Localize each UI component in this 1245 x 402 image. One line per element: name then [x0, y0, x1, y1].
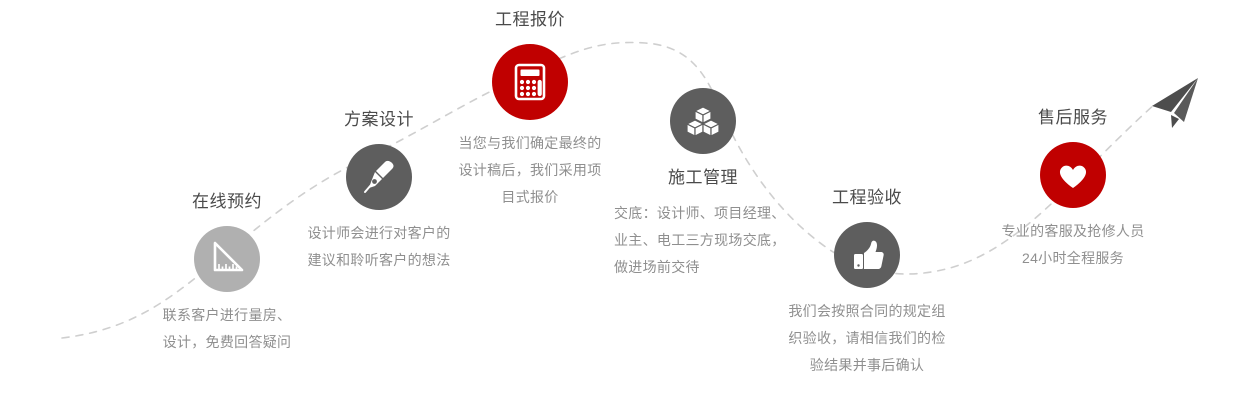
- step-description: 专业的客服及抢修人员24小时全程服务: [1001, 218, 1145, 272]
- step-description: 联系客户进行量房、设计，免费回答疑问: [161, 302, 293, 356]
- step-icon-circle[interactable]: [834, 222, 900, 288]
- pen-nib-icon: [360, 158, 398, 196]
- process-flow-diagram: 在线预约 联系客户进行量房、设计，免费回答疑问 方案设计: [0, 0, 1245, 402]
- spacer: [132, 292, 322, 302]
- step-icon-circle[interactable]: [194, 226, 260, 292]
- spacer: [608, 190, 798, 200]
- flow-step-6[interactable]: 售后服务 专业的客服及抢修人员24小时全程服务: [982, 106, 1164, 272]
- step-description: 当您与我们确定最终的设计稿后，我们采用项目式报价: [455, 130, 605, 211]
- thumbs-up-icon: [848, 236, 886, 274]
- flow-step-3[interactable]: 工程报价 当您与我们确定最终的设计稿后，我们采用项目式报价: [440, 8, 620, 211]
- spacer: [772, 288, 962, 298]
- spacer: [982, 130, 1164, 142]
- spacer: [608, 154, 798, 166]
- step-title: 售后服务: [982, 106, 1164, 130]
- spacer: [440, 120, 620, 130]
- step-description: 设计师会进行对客户的建议和聆听客户的想法: [305, 220, 453, 274]
- spacer: [290, 210, 468, 220]
- boxes-stack-icon: [684, 102, 722, 140]
- heart-icon: [1054, 156, 1092, 194]
- flow-step-5[interactable]: 工程验收 我们会按照合同的规定组织验收，请相信我们的检验结果并事后确认: [772, 186, 962, 379]
- step-description: 我们会按照合同的规定组织验收，请相信我们的检验结果并事后确认: [787, 298, 947, 379]
- spacer: [982, 208, 1164, 218]
- step-icon-circle[interactable]: [1040, 142, 1106, 208]
- step-icon-circle[interactable]: [492, 44, 568, 120]
- step-icon-circle[interactable]: [346, 144, 412, 210]
- flow-step-4[interactable]: 施工管理 交底：设计师、项目经理、业主、电工三方现场交底，做进场前交待: [608, 88, 798, 281]
- spacer: [440, 32, 620, 44]
- calculator-icon: [509, 61, 551, 103]
- step-title: 施工管理: [608, 166, 798, 190]
- step-title: 工程验收: [772, 186, 962, 210]
- ruler-triangle-icon: [208, 240, 246, 278]
- step-description: 交底：设计师、项目经理、业主、电工三方现场交底，做进场前交待: [614, 200, 792, 281]
- spacer: [772, 210, 962, 222]
- step-title: 工程报价: [440, 8, 620, 32]
- step-icon-circle[interactable]: [670, 88, 736, 154]
